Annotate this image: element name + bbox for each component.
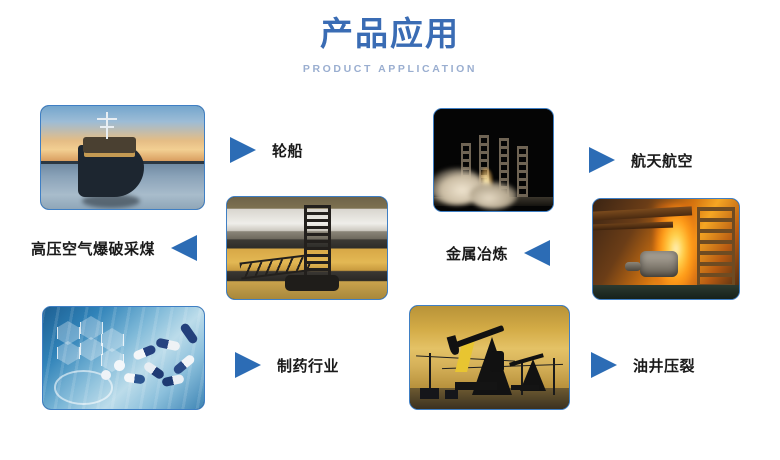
steel-smelting-furnace-photo bbox=[593, 199, 739, 299]
arrow-right-icon bbox=[230, 137, 256, 163]
arrow-right-icon bbox=[591, 352, 617, 378]
arrow-left-icon bbox=[171, 235, 197, 261]
application-image-ship[interactable] bbox=[40, 105, 205, 210]
application-image-metal-smelting[interactable] bbox=[592, 198, 740, 300]
application-item-oil-well-fracturing[interactable]: 油井压裂 bbox=[591, 352, 695, 378]
arrow-left-icon bbox=[524, 240, 550, 266]
open-pit-mining-excavator-photo bbox=[227, 197, 387, 299]
application-label-aerospace: 航天航空 bbox=[631, 150, 693, 171]
application-item-coal-mining[interactable]: 高压空气爆破采煤 bbox=[31, 235, 197, 261]
application-image-pharmaceutical[interactable] bbox=[42, 306, 205, 410]
application-label-ship: 轮船 bbox=[272, 140, 303, 161]
application-label-oil-well-fracturing: 油井压裂 bbox=[633, 355, 695, 376]
application-image-coal-mining[interactable] bbox=[226, 196, 388, 300]
application-label-coal-mining: 高压空气爆破采煤 bbox=[31, 238, 155, 259]
pharmaceutical-pills-photo bbox=[43, 307, 204, 409]
application-item-pharmaceutical[interactable]: 制药行业 bbox=[235, 352, 339, 378]
rocket-launch-photo bbox=[434, 109, 553, 211]
section-header: 产品应用 PRODUCT APPLICATION bbox=[0, 14, 780, 76]
application-item-ship[interactable]: 轮船 bbox=[230, 137, 303, 163]
product-application-section: 产品应用 PRODUCT APPLICATION 轮船 高压空气爆破采煤 bbox=[0, 0, 780, 460]
application-image-aerospace[interactable] bbox=[433, 108, 554, 212]
page-subtitle: PRODUCT APPLICATION bbox=[0, 63, 780, 76]
ship-at-sunset-photo bbox=[41, 106, 204, 209]
arrow-right-icon bbox=[235, 352, 261, 378]
application-label-metal-smelting: 金属冶炼 bbox=[446, 243, 508, 264]
application-item-metal-smelting[interactable]: 金属冶炼 bbox=[446, 240, 550, 266]
page-title: 产品应用 bbox=[0, 14, 780, 54]
application-image-oil-well-fracturing[interactable] bbox=[409, 305, 570, 410]
oil-pumpjack-sunset-photo bbox=[410, 306, 569, 409]
application-label-pharmaceutical: 制药行业 bbox=[277, 355, 339, 376]
application-item-aerospace[interactable]: 航天航空 bbox=[589, 147, 693, 173]
arrow-right-icon bbox=[589, 147, 615, 173]
